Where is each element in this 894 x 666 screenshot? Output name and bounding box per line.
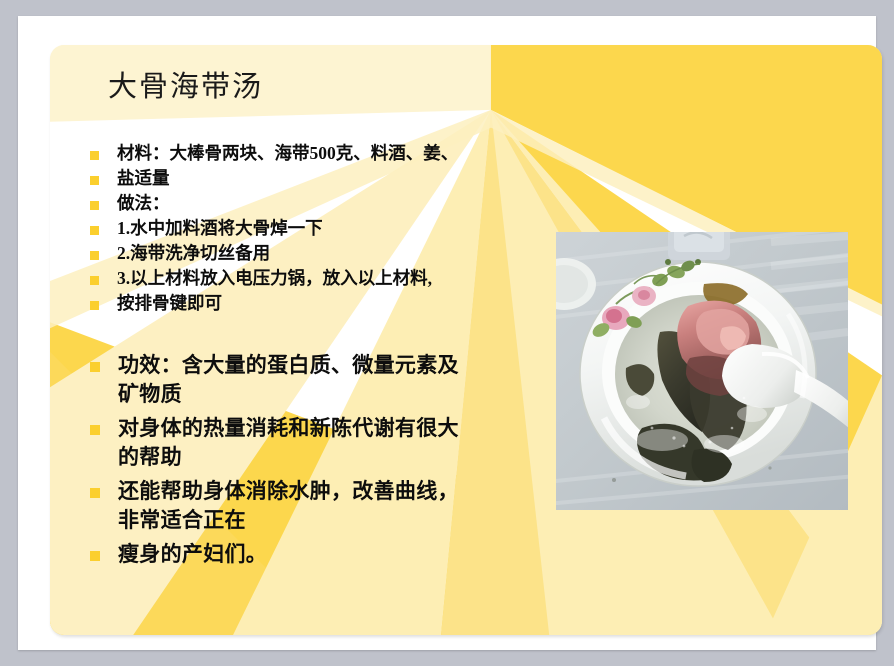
list-item-label: 1.水中加料酒将大骨焯一下: [117, 217, 323, 240]
list-item-label: 2.海带洗净切丝备用: [117, 242, 270, 265]
benefits-bullet-list: 功效：含大量的蛋白质、微量元素及 矿物质 对身体的热量消耗和新陈代谢有很大 的帮…: [90, 351, 560, 574]
list-item-label: 做法：: [117, 192, 170, 215]
recipe-bullet-list: 材料：大棒骨两块、海带500克、料酒、姜、 盐适量 做法： 1.水中加料酒将大骨…: [90, 142, 540, 317]
bullet-square-icon: [90, 151, 99, 160]
list-item-label: 盐适量: [117, 167, 170, 190]
list-item-label: 还能帮助身体消除水肿，改善曲线， 非常适合正在: [118, 477, 459, 535]
bullet-square-icon: [90, 488, 100, 498]
bullet-square-icon: [90, 362, 100, 372]
list-item: 3.以上材料放入电压力锅，放入以上材料,: [90, 267, 540, 290]
list-item-line-1: 对身体的热量消耗和新陈代谢有很大: [118, 414, 459, 443]
list-item: 功效：含大量的蛋白质、微量元素及 矿物质: [90, 351, 560, 409]
list-item-label: 材料：大棒骨两块、海带500克、料酒、姜、: [117, 142, 458, 165]
list-item: 瘦身的产妇们。: [90, 540, 560, 569]
list-item: 还能帮助身体消除水肿，改善曲线， 非常适合正在: [90, 477, 560, 535]
list-item-label: 功效：含大量的蛋白质、微量元素及 矿物质: [118, 351, 459, 409]
bullet-square-icon: [90, 551, 100, 561]
bullet-square-icon: [90, 251, 99, 260]
list-item-label: 按排骨键即可: [117, 292, 222, 315]
list-item-line-2: 矿物质: [118, 380, 459, 409]
list-item-line-1: 瘦身的产妇们。: [118, 540, 267, 569]
bullet-square-icon: [90, 425, 100, 435]
list-item: 做法：: [90, 192, 540, 215]
list-item: 对身体的热量消耗和新陈代谢有很大 的帮助: [90, 414, 560, 472]
list-item: 1.水中加料酒将大骨焯一下: [90, 217, 540, 240]
slide-title: 大骨海带汤: [108, 63, 263, 105]
list-item-label: 对身体的热量消耗和新陈代谢有很大 的帮助: [118, 414, 459, 472]
list-item-line-2: 的帮助: [118, 443, 459, 472]
list-item-label: 瘦身的产妇们。: [118, 540, 267, 569]
soup-photo: [556, 232, 848, 510]
list-item-line-1: 还能帮助身体消除水肿，改善曲线，: [118, 477, 459, 506]
bullet-square-icon: [90, 176, 99, 185]
list-item: 按排骨键即可: [90, 292, 540, 315]
soup-photo-graphic: [556, 232, 848, 510]
slide-paper-frame: 大骨海带汤 材料：大棒骨两块、海带500克、料酒、姜、 盐适量 做法： 1.: [18, 16, 876, 650]
bullet-square-icon: [90, 276, 99, 285]
list-item-line-2: 非常适合正在: [118, 506, 459, 535]
list-item: 材料：大棒骨两块、海带500克、料酒、姜、: [90, 142, 540, 165]
slide-viewport: 大骨海带汤 材料：大棒骨两块、海带500克、料酒、姜、 盐适量 做法： 1.: [0, 0, 894, 666]
bullet-square-icon: [90, 226, 99, 235]
list-item-label: 3.以上材料放入电压力锅，放入以上材料,: [117, 267, 432, 290]
list-item: 盐适量: [90, 167, 540, 190]
list-item: 2.海带洗净切丝备用: [90, 242, 540, 265]
presentation-slide: 大骨海带汤 材料：大棒骨两块、海带500克、料酒、姜、 盐适量 做法： 1.: [50, 45, 882, 635]
list-item-line-1: 功效：含大量的蛋白质、微量元素及: [118, 351, 459, 380]
bullet-square-icon: [90, 201, 99, 210]
bullet-square-icon: [90, 301, 99, 310]
